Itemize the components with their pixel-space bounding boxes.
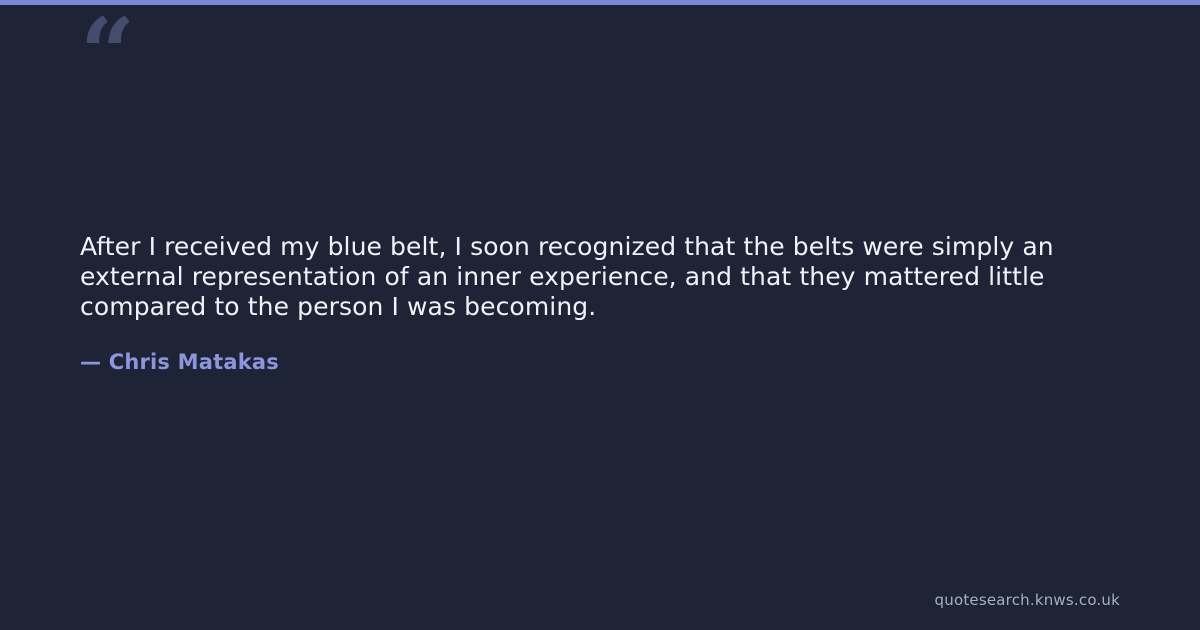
open-quote-icon: “ bbox=[80, 6, 133, 102]
quote-author: — Chris Matakas bbox=[80, 348, 279, 376]
source-url: quotesearch.knws.co.uk bbox=[935, 590, 1120, 610]
quote-card: “ After I received my blue belt, I soon … bbox=[0, 0, 1200, 630]
quote-body: After I received my blue belt, I soon re… bbox=[80, 232, 1120, 322]
quote-text: After I received my blue belt, I soon re… bbox=[80, 232, 1120, 322]
top-accent-bar bbox=[0, 0, 1200, 5]
